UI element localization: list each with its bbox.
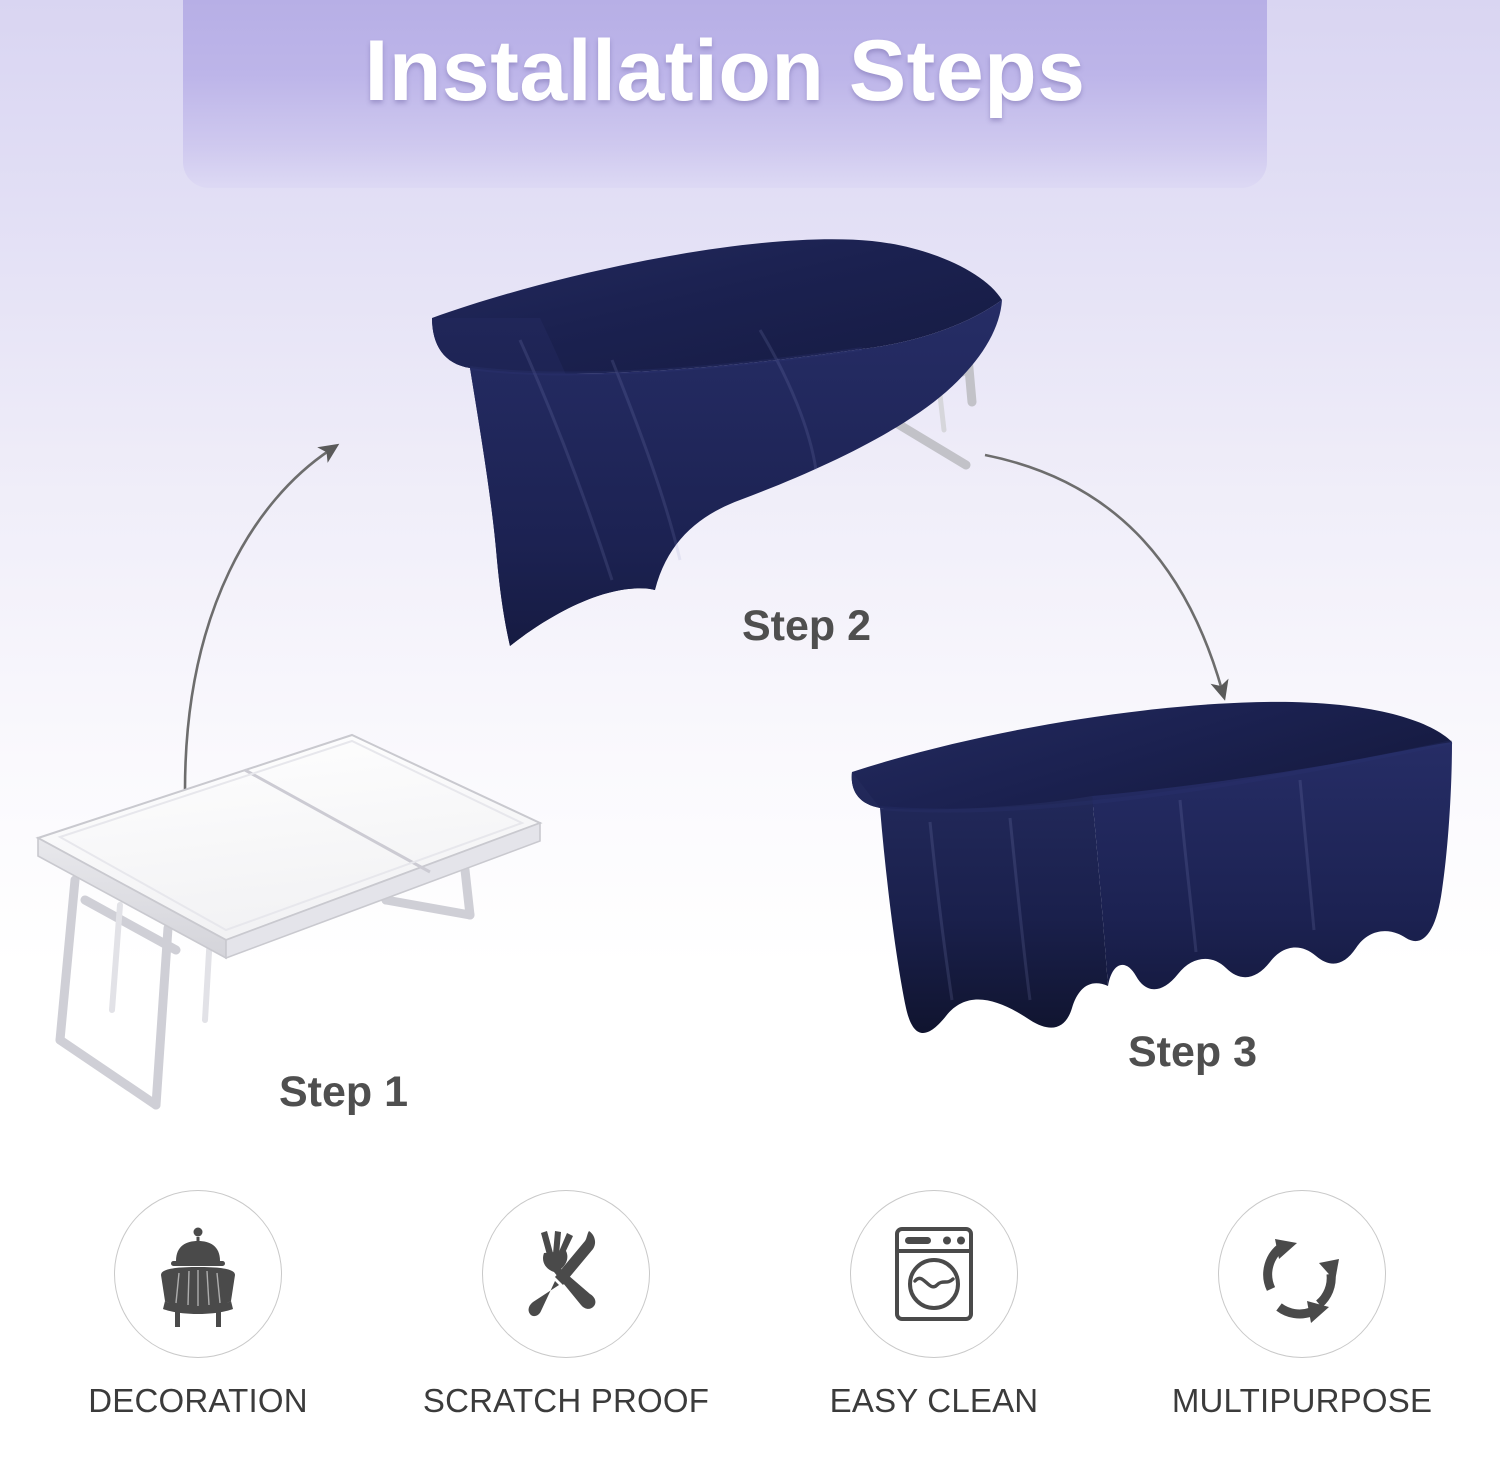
step2-illustration — [432, 239, 1002, 646]
product-infographic: Installation Steps — [0, 0, 1500, 1464]
feature-multipurpose: MULTIPURPOSE — [1126, 1190, 1478, 1420]
step1-illustration — [38, 735, 540, 1105]
feature-row: DECORATION — [0, 1190, 1500, 1464]
feature-label: DECORATION — [88, 1382, 308, 1420]
feature-circle — [114, 1190, 282, 1358]
step-3-label: Step 3 — [1128, 1028, 1257, 1077]
feature-label: MULTIPURPOSE — [1172, 1382, 1432, 1420]
feature-circle — [1218, 1190, 1386, 1358]
feature-circle — [482, 1190, 650, 1358]
step3-illustration — [852, 702, 1452, 1033]
feature-scratch-proof: SCRATCH PROOF — [390, 1190, 742, 1420]
washing-machine-icon — [879, 1219, 989, 1329]
arrow-step1-to-step2 — [185, 450, 330, 790]
feature-decoration: DECORATION — [22, 1190, 374, 1420]
step-2-label: Step 2 — [742, 602, 871, 651]
recycle-arrows-icon — [1247, 1219, 1357, 1329]
step-1-label: Step 1 — [279, 1068, 408, 1117]
feature-label: EASY CLEAN — [830, 1382, 1039, 1420]
arrow-step2-to-step3 — [985, 455, 1222, 690]
feature-easy-clean: EASY CLEAN — [758, 1190, 1110, 1420]
feature-circle — [850, 1190, 1018, 1358]
feature-label: SCRATCH PROOF — [423, 1382, 709, 1420]
cutlery-icon — [511, 1219, 621, 1329]
installation-illustration — [0, 0, 1500, 1200]
tablecloth-icon — [143, 1219, 253, 1329]
